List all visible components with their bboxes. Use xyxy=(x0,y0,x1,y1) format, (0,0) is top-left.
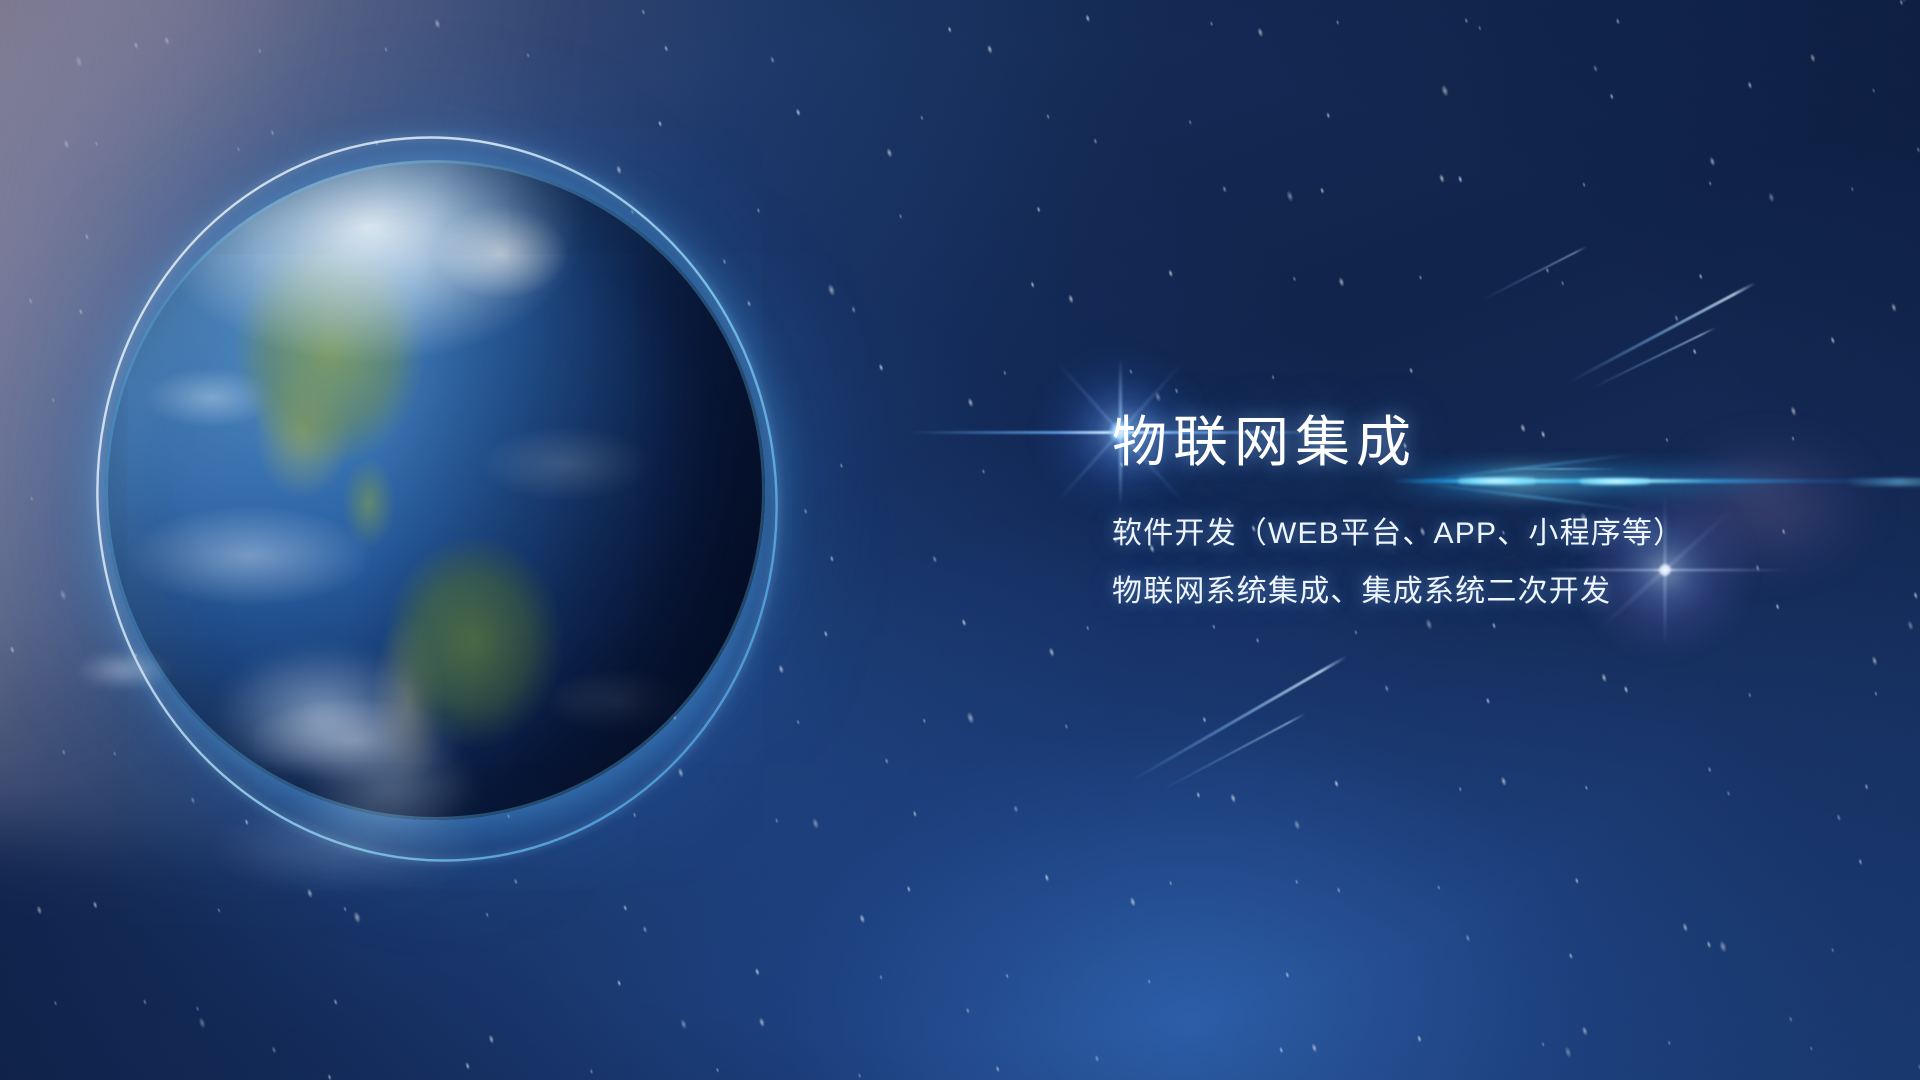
aurora-glow-icon xyxy=(0,0,560,876)
globe-atmosphere-glow xyxy=(69,124,801,856)
banner-text-block: 物联网集成 软件开发（WEB平台、APP、小程序等） 物联网系统集成、集成系统二… xyxy=(1112,410,1812,607)
aurora-glow-inner-icon xyxy=(0,0,291,714)
globe-terminator-shading xyxy=(105,160,765,820)
meteor-icon xyxy=(1569,282,1756,383)
globe-limb-highlight xyxy=(105,160,765,820)
cloud-wisp-icon xyxy=(58,640,188,700)
iot-integration-banner: 物联网集成 软件开发（WEB平台、APP、小程序等） 物联网系统集成、集成系统二… xyxy=(0,0,1920,1080)
globe-sphere xyxy=(105,160,765,820)
meteor-icon xyxy=(1480,246,1588,302)
meteor-icon xyxy=(1129,655,1347,783)
banner-subline-1: 软件开发（WEB平台、APP、小程序等） xyxy=(1112,519,1812,549)
earth-globe xyxy=(105,160,765,820)
cloud-mist-icon xyxy=(150,600,580,900)
meteor-icon xyxy=(1160,713,1307,792)
banner-subline-2: 物联网系统集成、集成系统二次开发 xyxy=(1112,577,1812,607)
orbital-ring-icon xyxy=(34,80,841,918)
meteor-icon xyxy=(1590,327,1717,390)
cyan-light-streak-far-icon xyxy=(1845,478,1920,486)
banner-headline: 物联网集成 xyxy=(1112,410,1812,475)
